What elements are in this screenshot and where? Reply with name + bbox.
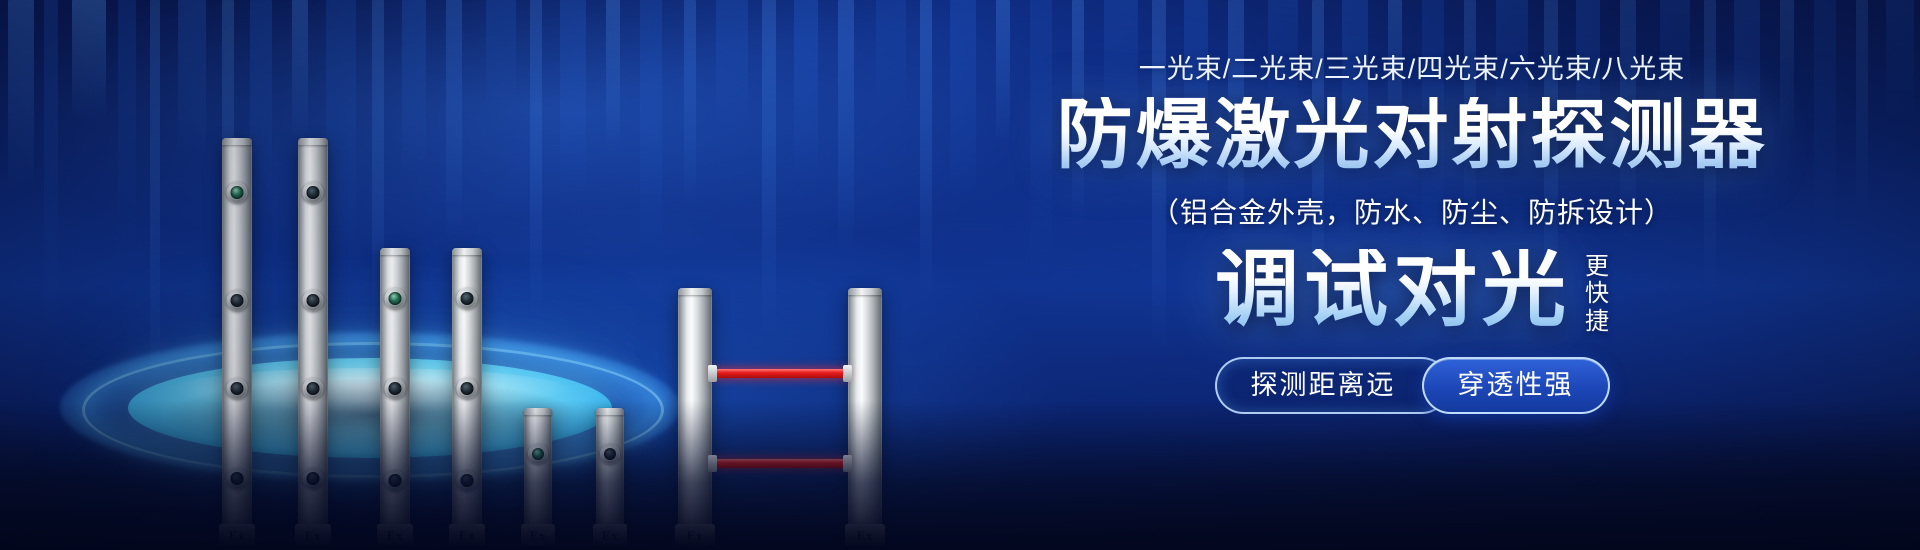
- ex-rating-label: Ex: [530, 529, 546, 542]
- lens-icon: [600, 444, 620, 464]
- tower-base-plate: Ex: [295, 524, 331, 546]
- lens-icon: [385, 378, 406, 399]
- tower-base-plate: Ex: [675, 524, 716, 546]
- page-title: 防爆激光对射探测器: [962, 97, 1862, 175]
- tower-7: Ex: [678, 284, 712, 550]
- feature-vertical-text: 更快捷: [1585, 249, 1609, 336]
- lens-icon: [528, 444, 548, 464]
- lens-icon: [227, 468, 248, 489]
- ex-rating-label: Ex: [459, 529, 475, 542]
- lens-icon: [385, 288, 406, 309]
- lens-icon: [227, 290, 248, 311]
- tower-2: Ex: [298, 134, 328, 550]
- lens-icon: [303, 290, 324, 311]
- tagline: 一光束/二光束/三光束/四光束/六光束/八光束: [962, 56, 1862, 83]
- subtitle: （铝合金外壳，防水、防尘、防拆设计）: [962, 191, 1862, 231]
- lens-icon: [457, 288, 478, 309]
- ex-rating-label: Ex: [387, 529, 403, 542]
- lens-icon: [303, 182, 324, 203]
- tower-base-plate: Ex: [593, 524, 627, 546]
- tower-body: [524, 408, 552, 528]
- vertical-text-char: 更: [1585, 255, 1609, 280]
- lens-icon: [303, 378, 324, 399]
- lens-icon: [385, 470, 406, 491]
- ex-rating-label: Ex: [305, 529, 321, 542]
- lens-icon: [457, 470, 478, 491]
- lens-icon: [227, 378, 248, 399]
- tower-body: [678, 288, 712, 528]
- laser-beam-upper: [712, 369, 848, 378]
- tower-body: [380, 248, 410, 528]
- ex-rating-label: Ex: [229, 529, 245, 542]
- tower-4: Ex: [452, 244, 482, 550]
- ex-rating-label: Ex: [602, 529, 618, 542]
- tower-5: Ex: [524, 404, 552, 550]
- tower-base-plate: Ex: [845, 524, 886, 546]
- tower-body: [222, 138, 252, 528]
- feature-headline-row: 调试对光 更快捷: [962, 249, 1862, 336]
- feature-pill-solid[interactable]: 穿透性强: [1422, 357, 1610, 414]
- laser-beam-lower: [712, 459, 848, 468]
- tower-1: Ex: [222, 134, 252, 550]
- vertical-text-char: 捷: [1585, 310, 1609, 335]
- ex-rating-label: Ex: [857, 529, 873, 542]
- tower-body: [848, 288, 882, 528]
- promo-banner: ExExExExExExExEx 一光束/二光束/三光束/四光束/六光束/八光束…: [0, 0, 1920, 550]
- ex-rating-label: Ex: [687, 529, 703, 542]
- copy-block: 一光束/二光束/三光束/四光束/六光束/八光束 防爆激光对射探测器 （铝合金外壳…: [962, 56, 1862, 414]
- tower-6: Ex: [596, 404, 624, 550]
- product-tower-group: ExExExExExExExEx: [0, 0, 900, 550]
- vertical-text-char: 快: [1585, 282, 1609, 307]
- lens-icon: [227, 182, 248, 203]
- lens-icon: [457, 378, 478, 399]
- tower-8: Ex: [848, 284, 882, 550]
- tower-body: [298, 138, 328, 528]
- tower-3: Ex: [380, 244, 410, 550]
- feature-pill-group: 探测距离远穿透性强: [962, 357, 1862, 414]
- tower-body: [596, 408, 624, 528]
- tower-base-plate: Ex: [377, 524, 413, 546]
- tower-base-plate: Ex: [521, 524, 555, 546]
- tower-base-plate: Ex: [449, 524, 485, 546]
- background-bar: [920, 0, 932, 300]
- feature-pill-outline[interactable]: 探测距离远: [1215, 357, 1450, 414]
- background-bar: [1886, 0, 1914, 120]
- feature-headline: 调试对光: [1215, 249, 1571, 333]
- tower-base-plate: Ex: [219, 524, 255, 546]
- lens-icon: [303, 468, 324, 489]
- tower-body: [452, 248, 482, 528]
